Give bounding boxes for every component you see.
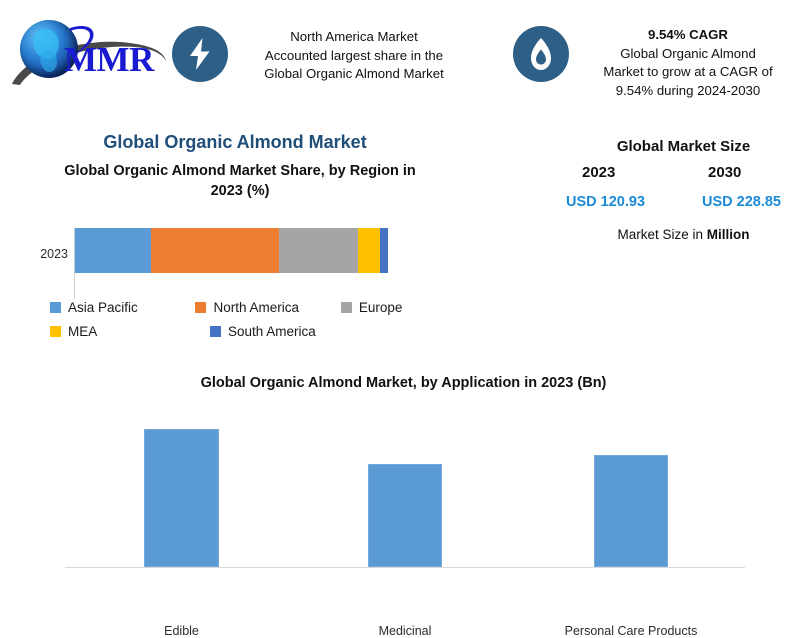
badge-cagr: 9.54% CAGR Global Organic Almond Market … xyxy=(513,26,797,101)
application-chart: Global Organic Almond Market, by Applica… xyxy=(0,368,807,610)
mmr-logo[interactable]: MMR xyxy=(8,12,173,90)
chart-title-main: Global Organic Almond Market xyxy=(0,132,470,153)
app-tick-label-medicinal: Medicinal xyxy=(323,624,487,638)
flame-icon xyxy=(513,26,569,82)
market-size-year-2030: 2030 xyxy=(708,164,741,181)
app-bar-medicinal xyxy=(368,464,442,567)
cagr-highlight: 9.54% CAGR xyxy=(579,26,797,45)
stack-segment-europe xyxy=(279,228,358,273)
category-axis xyxy=(65,567,745,568)
legend-label: North America xyxy=(213,300,299,315)
market-size-footnote: Market Size in Million xyxy=(560,227,807,242)
badge-cagr-line1: Global Organic Almond xyxy=(620,46,756,61)
badge-na-line1: North America Market xyxy=(290,29,418,44)
market-size-year-2023: 2023 xyxy=(582,164,615,181)
application-plot-area: EdibleMedicinalPersonal Care Products xyxy=(65,418,745,568)
legend-row-1: Asia PacificNorth AmericaEurope xyxy=(50,300,450,315)
legend-swatch-icon xyxy=(210,326,221,337)
stack-segment-south-america xyxy=(380,228,388,273)
legend-item-north-america[interactable]: North America xyxy=(195,300,340,315)
market-size-heading: Global Market Size xyxy=(560,138,807,155)
chart-title-sub: Global Organic Almond Market Share, by R… xyxy=(55,162,425,201)
badge-na-line2: Accounted largest share in the xyxy=(265,48,443,63)
lightning-bolt-icon xyxy=(172,26,228,82)
share-legend: Asia PacificNorth AmericaEurope MEASouth… xyxy=(50,300,450,348)
logo-wordmark: MMR xyxy=(64,40,154,80)
legend-label: Europe xyxy=(359,300,403,315)
legend-swatch-icon xyxy=(50,326,61,337)
badge-north-america-text: North America Market Accounted largest s… xyxy=(228,26,470,84)
legend-swatch-icon xyxy=(50,302,61,313)
badge-cagr-line2: Market to grow at a CAGR of xyxy=(603,64,772,79)
market-size-value-2023: USD 120.93 xyxy=(566,194,645,210)
stacked-bar xyxy=(75,228,388,273)
legend-swatch-icon xyxy=(341,302,352,313)
badge-cagr-text: 9.54% CAGR Global Organic Almond Market … xyxy=(569,26,797,101)
chart-subtitle-line1: Global Organic Almond Market Share, by xyxy=(64,163,345,179)
footnote-unit: Million xyxy=(707,227,750,242)
app-tick-label-edible: Edible xyxy=(99,624,264,638)
legend-label: MEA xyxy=(68,324,97,339)
app-bar-personal-care-products xyxy=(594,455,668,567)
stack-segment-north-america xyxy=(151,228,279,273)
legend-swatch-icon xyxy=(195,302,206,313)
badge-north-america: North America Market Accounted largest s… xyxy=(172,26,470,84)
stack-segment-mea xyxy=(358,228,380,273)
legend-label: South America xyxy=(228,324,316,339)
badge-cagr-line3: 9.54% during 2024-2030 xyxy=(616,83,760,98)
badge-na-line3: Global Organic Almond Market xyxy=(264,66,444,81)
top-banner: MMR North America Market Accounted large… xyxy=(0,0,807,118)
app-bar-edible xyxy=(144,429,219,567)
stack-segment-asia-pacific xyxy=(75,228,151,273)
category-label-2023: 2023 xyxy=(26,247,68,261)
share-plot-area: 2023 xyxy=(74,227,390,299)
legend-item-europe[interactable]: Europe xyxy=(341,300,450,315)
legend-label: Asia Pacific xyxy=(68,300,138,315)
market-size-value-2030: USD 228.85 xyxy=(702,194,781,210)
footnote-prefix: Market Size in xyxy=(617,227,706,242)
market-share-chart: Global Organic Almond Market Global Orga… xyxy=(0,122,470,362)
legend-item-mea[interactable]: MEA xyxy=(50,324,210,339)
legend-row-2: MEASouth America xyxy=(50,324,450,339)
application-chart-title: Global Organic Almond Market, by Applica… xyxy=(0,375,807,391)
market-size-panel: Global Market Size 2023 2030 USD 120.93 … xyxy=(560,132,807,232)
legend-item-south-america[interactable]: South America xyxy=(210,324,370,339)
legend-item-asia-pacific[interactable]: Asia Pacific xyxy=(50,300,195,315)
app-tick-label-personal-care-products: Personal Care Products xyxy=(549,624,713,638)
